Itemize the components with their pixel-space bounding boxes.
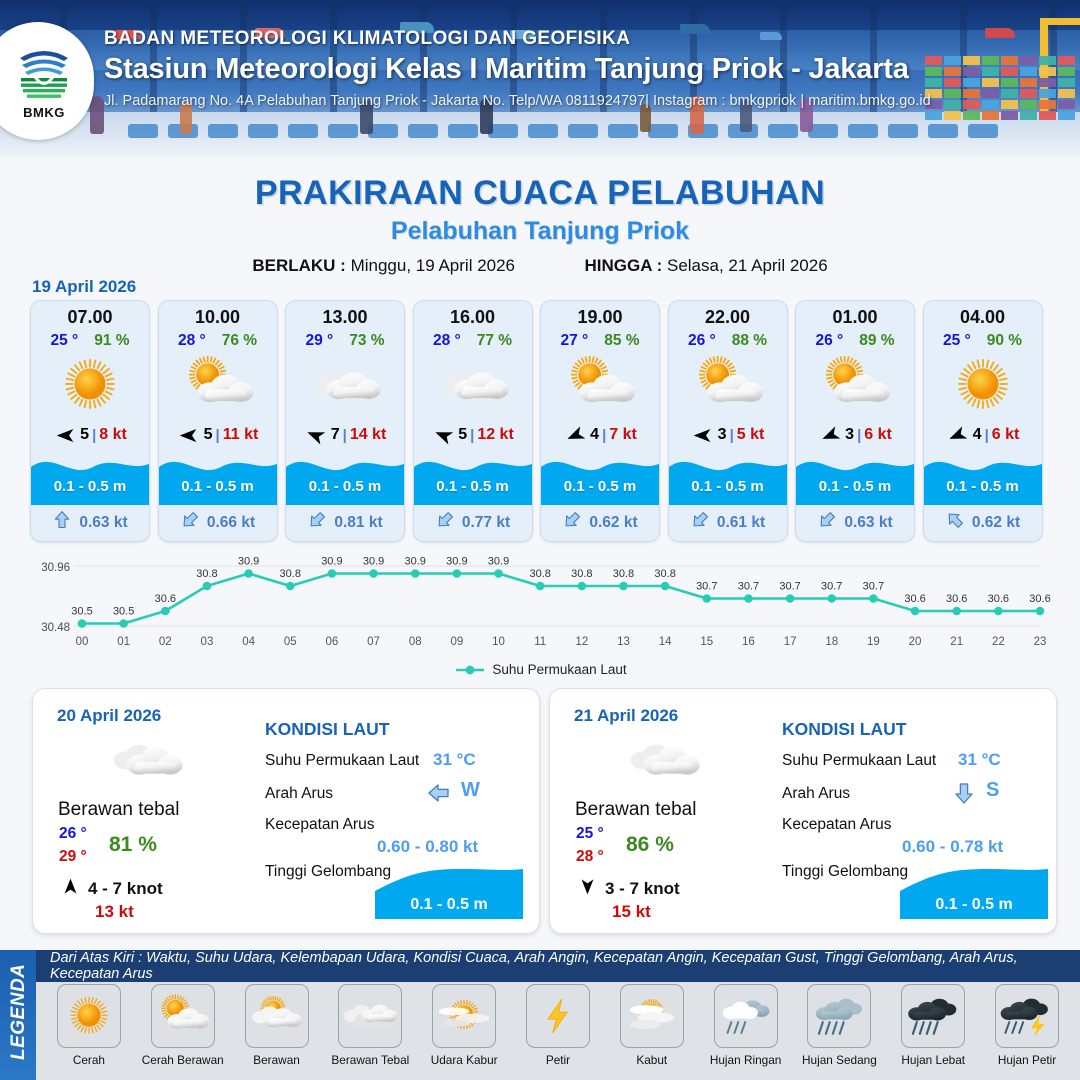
svg-text:15: 15	[700, 636, 713, 648]
svg-text:30.7: 30.7	[738, 581, 759, 593]
cloud-sun-icon	[245, 984, 309, 1048]
card-separator: |	[730, 427, 734, 444]
wave-graphic	[669, 449, 788, 505]
legenda-item-label: Hujan Lebat	[901, 1053, 965, 1067]
card-wind-speed: 3	[718, 426, 727, 444]
legenda-item: Udara Kabur	[421, 984, 507, 1067]
svg-text:17: 17	[784, 636, 797, 648]
card-wind: 5 | 11 kt	[159, 422, 277, 448]
card-wind-speed: 3	[845, 426, 854, 444]
svg-text:30.6: 30.6	[155, 593, 176, 605]
svg-text:30.6: 30.6	[904, 593, 925, 605]
cloud-icon	[91, 731, 201, 789]
card-separator: |	[470, 427, 474, 444]
svg-text:30.9: 30.9	[363, 556, 384, 568]
svg-text:30.9: 30.9	[405, 556, 426, 568]
card-wind-speed: 7	[331, 426, 340, 444]
svg-text:23: 23	[1034, 636, 1047, 648]
svg-text:05: 05	[284, 636, 297, 648]
svg-text:04: 04	[242, 636, 255, 648]
daily-temp-min: 26 °	[59, 825, 87, 843]
berlaku-label: BERLAKU :	[252, 256, 346, 275]
daily-wind-range: 4 - 7 knot	[88, 879, 163, 899]
cloud-icon	[608, 731, 718, 789]
card-wind: 5 | 12 kt	[414, 422, 532, 448]
card-current: 0.77 kt	[414, 510, 532, 535]
arrow-southwest-icon	[180, 510, 200, 535]
daily-date: 20 April 2026	[57, 706, 161, 726]
sst-label: Suhu Permukaan Laut	[782, 752, 936, 770]
svg-text:21: 21	[950, 636, 963, 648]
card-humidity: 89 %	[859, 332, 894, 350]
arrow-westsouthwest-icon	[563, 425, 587, 445]
hourly-card: 10.00 28 ° 76 % 5 | 11 kt	[158, 300, 278, 542]
wave-graphic	[31, 449, 150, 505]
hourly-card: 16.00 28 ° 77 % 5 | 12 kt	[413, 300, 533, 542]
current-direction-label: Arah Arus	[265, 785, 333, 803]
daily-humidity: 81 %	[109, 833, 157, 857]
legenda-item-label: Udara Kabur	[431, 1053, 498, 1067]
card-temp-humidity: 25 ° 90 %	[924, 332, 1042, 350]
daily-condition: Berawan tebal	[575, 799, 696, 821]
legenda-item: Berawan	[234, 984, 320, 1067]
card-wind-speed: 5	[80, 426, 89, 444]
wave-height-value: 0.1 - 0.5 m	[900, 896, 1048, 914]
arrow-north-icon	[52, 510, 72, 535]
daily-gust: 13 kt	[95, 902, 134, 922]
sun-cloud-icon	[151, 984, 215, 1048]
arrow-southwest-icon	[690, 510, 710, 535]
svg-text:30.5: 30.5	[71, 606, 92, 618]
card-gust: 12 kt	[477, 426, 513, 444]
svg-text:09: 09	[450, 636, 463, 648]
daily-wind: 4 - 7 knot	[61, 877, 163, 901]
card-wind-speed: 4	[590, 426, 599, 444]
daily-temp-min: 25 °	[576, 825, 604, 843]
hourly-card: 01.00 26 ° 89 % 3 | 6 kt	[795, 300, 915, 542]
arrow-westsouthwest-icon	[818, 425, 842, 445]
card-wind: 5 | 8 kt	[31, 422, 149, 448]
arrow-southwest-icon	[817, 510, 837, 535]
card-wave-height: 0.1 - 0.5 m	[31, 478, 149, 495]
sun-icon	[31, 354, 149, 416]
card-humidity: 76 %	[222, 332, 257, 350]
wave-graphic	[414, 449, 533, 505]
card-wind-speed: 5	[204, 426, 213, 444]
daily-temp-max: 29 °	[59, 848, 87, 866]
current-speed-label: Kecepatan Arus	[782, 816, 891, 834]
card-time: 19.00	[541, 301, 659, 328]
current-direction-value: W	[461, 779, 480, 802]
arrow-west-icon	[427, 781, 451, 810]
svg-text:30.8: 30.8	[571, 568, 592, 580]
card-current: 0.61 kt	[669, 510, 787, 535]
current-speed-label: Kecepatan Arus	[265, 816, 374, 834]
arrow-north-icon	[61, 877, 80, 901]
cloud-icon	[286, 354, 404, 416]
bmkg-logo-text: BMKG	[23, 105, 65, 120]
legenda-item: Hujan Lebat	[890, 984, 976, 1067]
card-current-speed: 0.77 kt	[462, 514, 510, 532]
card-temperature: 28 °	[178, 332, 206, 350]
card-current-speed: 0.61 kt	[717, 514, 765, 532]
card-temp-humidity: 26 ° 89 %	[796, 332, 914, 350]
bmkg-logo-mark	[14, 42, 74, 104]
sun-cloud-icon	[669, 354, 787, 416]
card-time: 01.00	[796, 301, 914, 328]
arrow-west-icon	[691, 425, 715, 445]
card-gust: 7 kt	[609, 426, 637, 444]
card-humidity: 90 %	[987, 332, 1022, 350]
card-humidity: 88 %	[732, 332, 767, 350]
card-wave-height: 0.1 - 0.5 m	[669, 478, 787, 495]
svg-text:30.7: 30.7	[779, 581, 800, 593]
legend-marker-icon	[455, 664, 485, 676]
svg-text:06: 06	[326, 636, 339, 648]
page-header: BMKG BADAN METEOROLOGI KLIMATOLOGI DAN G…	[0, 0, 1080, 158]
card-gust: 6 kt	[992, 426, 1020, 444]
svg-text:30.8: 30.8	[196, 568, 217, 580]
legenda-side-tab: LEGENDA	[0, 950, 36, 1080]
svg-text:30.96: 30.96	[41, 562, 70, 574]
legenda-item: Cerah	[46, 984, 132, 1067]
legenda-item-label: Berawan	[253, 1053, 300, 1067]
card-current: 0.63 kt	[31, 510, 149, 535]
daily-wind-range: 3 - 7 knot	[605, 879, 680, 899]
card-wave-height: 0.1 - 0.5 m	[924, 478, 1042, 495]
arrow-south-icon	[578, 877, 597, 901]
legenda-item: Cerah Berawan	[140, 984, 226, 1067]
hingga-value: Selasa, 21 April 2026	[667, 256, 828, 275]
card-current-speed: 0.66 kt	[207, 514, 255, 532]
legenda-item-label: Cerah	[73, 1053, 105, 1067]
current-direction-label: Arah Arus	[782, 785, 850, 803]
card-temp-humidity: 26 ° 88 %	[669, 332, 787, 350]
arrow-southwest-icon	[307, 510, 327, 535]
hourly-card: 07.00 25 ° 91 % 5 | 8 kt 0.1 - 0.5 m	[30, 300, 150, 542]
svg-text:02: 02	[159, 636, 172, 648]
card-temp-humidity: 29 ° 73 %	[286, 332, 404, 350]
arrow-westnorthwest-icon	[304, 425, 328, 445]
legenda-item-label: Hujan Sedang	[802, 1053, 877, 1067]
sst-chart-svg: 30.9630.4830.50030.50130.60230.80330.904…	[30, 552, 1052, 660]
legenda-section: LEGENDA Dari Atas Kiri : Waktu, Suhu Uda…	[0, 950, 1080, 1080]
card-wind: 3 | 5 kt	[669, 422, 787, 448]
svg-text:12: 12	[575, 636, 588, 648]
card-temp-humidity: 28 ° 76 %	[159, 332, 277, 350]
thunderstorm-icon	[995, 984, 1059, 1048]
card-temp-humidity: 28 ° 77 %	[414, 332, 532, 350]
legenda-icon-list: Cerah Cerah Berawan	[36, 984, 1080, 1067]
svg-text:19: 19	[867, 636, 880, 648]
card-humidity: 77 %	[477, 332, 512, 350]
legenda-side-label: LEGENDA	[8, 960, 30, 1060]
daily-temp-max: 28 °	[576, 848, 604, 866]
hourly-forecast-row: 07.00 25 ° 91 % 5 | 8 kt 0.1 - 0.5 m	[30, 300, 1052, 542]
card-separator: |	[857, 427, 861, 444]
wave-graphic	[924, 449, 1043, 505]
svg-text:30.6: 30.6	[946, 593, 967, 605]
agency-name: BADAN METEOROLOGI KLIMATOLOGI DAN GEOFIS…	[104, 28, 1064, 50]
card-current-speed: 0.62 kt	[972, 514, 1020, 532]
svg-text:00: 00	[76, 636, 89, 648]
svg-text:18: 18	[825, 636, 838, 648]
station-address: Jl. Padamarang No. 4A Pelabuhan Tanjung …	[104, 93, 1064, 109]
card-time: 22.00	[669, 301, 787, 328]
card-current: 0.81 kt	[286, 510, 404, 535]
header-text-block: BADAN METEOROLOGI KLIMATOLOGI DAN GEOFIS…	[104, 28, 1064, 109]
card-temperature: 29 °	[305, 332, 333, 350]
svg-text:30.9: 30.9	[238, 556, 259, 568]
sun-cloud-icon	[159, 354, 277, 416]
card-wave-height: 0.1 - 0.5 m	[414, 478, 532, 495]
arrow-westnorthwest-icon	[431, 425, 455, 445]
card-temperature: 26 °	[815, 332, 843, 350]
card-time: 13.00	[286, 301, 404, 328]
legenda-item: Petir	[515, 984, 601, 1067]
legenda-item: Berawan Tebal	[327, 984, 413, 1067]
sun-icon	[924, 354, 1042, 416]
station-name: Stasiun Meteorologi Kelas I Maritim Tanj…	[104, 53, 1064, 86]
sea-condition-title: KONDISI LAUT	[265, 719, 389, 740]
wave-height-value: 0.1 - 0.5 m	[375, 896, 523, 914]
arrow-west-icon	[53, 425, 77, 445]
card-humidity: 73 %	[349, 332, 384, 350]
card-time: 16.00	[414, 301, 532, 328]
card-wave-height: 0.1 - 0.5 m	[541, 478, 659, 495]
legend-label: Suhu Permukaan Laut	[492, 662, 626, 677]
wave-graphic	[159, 449, 278, 505]
wave-graphic	[796, 449, 915, 505]
sst-label: Suhu Permukaan Laut	[265, 752, 419, 770]
svg-text:30.9: 30.9	[446, 556, 467, 568]
card-current-speed: 0.62 kt	[589, 514, 637, 532]
svg-text:30.8: 30.8	[613, 568, 634, 580]
svg-text:30.7: 30.7	[696, 581, 717, 593]
card-gust: 6 kt	[864, 426, 892, 444]
svg-text:30.8: 30.8	[280, 568, 301, 580]
card-separator: |	[216, 427, 220, 444]
card-wind-speed: 5	[458, 426, 467, 444]
legenda-description: Dari Atas Kiri : Waktu, Suhu Udara, Kele…	[50, 950, 1080, 982]
daily-humidity: 86 %	[626, 833, 674, 857]
card-time: 04.00	[924, 301, 1042, 328]
arrow-west-icon	[177, 425, 201, 445]
legenda-item-label: Cerah Berawan	[142, 1053, 224, 1067]
sun-cloud-icon	[796, 354, 914, 416]
sun-cloud-icon	[541, 354, 659, 416]
card-gust: 5 kt	[737, 426, 765, 444]
card-time: 07.00	[31, 301, 149, 328]
card-wind: 7 | 14 kt	[286, 422, 404, 448]
daily-wind: 3 - 7 knot	[578, 877, 680, 901]
svg-text:16: 16	[742, 636, 755, 648]
svg-text:13: 13	[617, 636, 630, 648]
hourly-card: 19.00 27 ° 85 % 4 | 7 kt	[540, 300, 660, 542]
arrow-south-icon	[952, 781, 976, 810]
moderate-rain-icon	[807, 984, 871, 1048]
svg-text:30.8: 30.8	[529, 568, 550, 580]
page-subtitle: Pelabuhan Tanjung Priok	[0, 217, 1080, 246]
card-separator: |	[343, 427, 347, 444]
wave-height-label: Tinggi Gelombang	[782, 863, 908, 881]
card-current: 0.63 kt	[796, 510, 914, 535]
svg-text:30.6: 30.6	[1029, 593, 1050, 605]
svg-text:30.8: 30.8	[654, 568, 675, 580]
card-current-speed: 0.81 kt	[334, 514, 382, 532]
hourly-date-label: 19 April 2026	[32, 277, 136, 297]
chart-legend: Suhu Permukaan Laut	[30, 662, 1052, 677]
card-wave-height: 0.1 - 0.5 m	[286, 478, 404, 495]
current-speed-value: 0.60 - 0.80 kt	[377, 837, 478, 857]
light-rain-icon	[714, 984, 778, 1048]
sst-value: 31 °C	[433, 750, 476, 770]
card-humidity: 91 %	[94, 332, 129, 350]
svg-text:11: 11	[534, 636, 546, 648]
page-title: PRAKIRAAN CUACA PELABUHAN	[0, 174, 1080, 213]
legenda-item: Hujan Petir	[984, 984, 1070, 1067]
svg-text:30.9: 30.9	[488, 556, 509, 568]
card-gust: 8 kt	[99, 426, 127, 444]
legenda-item-label: Petir	[546, 1053, 570, 1067]
card-wind-speed: 4	[973, 426, 982, 444]
card-temperature: 25 °	[50, 332, 78, 350]
fog-icon	[620, 984, 684, 1048]
sst-chart: 30.9630.4830.50030.50130.60230.80330.904…	[30, 552, 1052, 674]
legenda-description-bar: Dari Atas Kiri : Waktu, Suhu Udara, Kele…	[36, 950, 1080, 982]
svg-text:08: 08	[409, 636, 422, 648]
card-wave-height: 0.1 - 0.5 m	[159, 478, 277, 495]
hourly-card: 13.00 29 ° 73 % 7 | 14 kt	[285, 300, 405, 542]
card-current: 0.62 kt	[924, 510, 1042, 535]
heavy-rain-icon	[901, 984, 965, 1048]
card-current-speed: 0.63 kt	[79, 514, 127, 532]
card-current: 0.66 kt	[159, 510, 277, 535]
card-temperature: 28 °	[433, 332, 461, 350]
svg-text:01: 01	[117, 636, 130, 648]
card-wind: 4 | 6 kt	[924, 422, 1042, 448]
wave-graphic	[541, 449, 660, 505]
legenda-item: Hujan Sedang	[796, 984, 882, 1067]
card-current: 0.62 kt	[541, 510, 659, 535]
card-temp-humidity: 27 ° 85 %	[541, 332, 659, 350]
legenda-item: Kabut	[609, 984, 695, 1067]
card-wave-height: 0.1 - 0.5 m	[796, 478, 914, 495]
card-temperature: 27 °	[560, 332, 588, 350]
haze-icon	[432, 984, 496, 1048]
daily-forecast-card: 20 April 2026 Berawan tebal 26 ° 29 ° 81…	[32, 688, 540, 934]
validity-period: BERLAKU : Minggu, 19 April 2026 HINGGA :…	[0, 256, 1080, 276]
svg-text:22: 22	[992, 636, 1005, 648]
current-speed-value: 0.60 - 0.78 kt	[902, 837, 1003, 857]
card-wind: 4 | 7 kt	[541, 422, 659, 448]
sst-value: 31 °C	[958, 750, 1001, 770]
legenda-item-label: Hujan Petir	[998, 1053, 1056, 1067]
wave-graphic	[286, 449, 405, 505]
arrow-southwest-icon	[435, 510, 455, 535]
card-gust: 14 kt	[350, 426, 386, 444]
svg-text:30.6: 30.6	[988, 593, 1009, 605]
arrow-westsouthwest-icon	[946, 425, 970, 445]
card-temp-humidity: 25 ° 91 %	[31, 332, 149, 350]
hourly-card: 22.00 26 ° 88 % 3 | 5 kt	[668, 300, 788, 542]
card-temperature: 26 °	[688, 332, 716, 350]
legenda-item-label: Hujan Ringan	[710, 1053, 781, 1067]
svg-text:30.7: 30.7	[863, 581, 884, 593]
current-direction-value: S	[986, 779, 999, 802]
svg-text:10: 10	[492, 636, 505, 648]
daily-gust: 15 kt	[612, 902, 651, 922]
hingga-label: HINGGA :	[584, 256, 662, 275]
card-temperature: 25 °	[943, 332, 971, 350]
card-separator: |	[92, 427, 96, 444]
daily-forecast-card: 21 April 2026 Berawan tebal 25 ° 28 ° 86…	[549, 688, 1057, 934]
svg-text:07: 07	[367, 636, 380, 648]
sun-icon	[57, 984, 121, 1048]
svg-text:30.5: 30.5	[113, 606, 134, 618]
lightning-icon	[526, 984, 590, 1048]
legenda-item: Hujan Ringan	[703, 984, 789, 1067]
arrow-southwest-icon	[562, 510, 582, 535]
svg-text:14: 14	[659, 636, 672, 648]
daily-condition: Berawan tebal	[58, 799, 179, 821]
daily-date: 21 April 2026	[574, 706, 678, 726]
card-separator: |	[602, 427, 606, 444]
sea-condition-title: KONDISI LAUT	[782, 719, 906, 740]
arrow-northwest-icon	[945, 510, 965, 535]
heavy-cloud-icon	[338, 984, 402, 1048]
svg-text:30.48: 30.48	[41, 622, 70, 634]
svg-text:20: 20	[909, 636, 922, 648]
svg-text:03: 03	[201, 636, 214, 648]
svg-text:30.7: 30.7	[821, 581, 842, 593]
berlaku-value: Minggu, 19 April 2026	[351, 256, 515, 275]
card-current-speed: 0.63 kt	[844, 514, 892, 532]
card-gust: 11 kt	[223, 426, 259, 444]
card-humidity: 85 %	[604, 332, 639, 350]
wave-height-label: Tinggi Gelombang	[265, 863, 391, 881]
title-block: PRAKIRAAN CUACA PELABUHAN Pelabuhan Tanj…	[0, 158, 1080, 276]
hourly-card: 04.00 25 ° 90 % 4 | 6 kt 0.1 - 0.5 m	[923, 300, 1043, 542]
card-separator: |	[985, 427, 989, 444]
card-time: 10.00	[159, 301, 277, 328]
legenda-item-label: Kabut	[636, 1053, 667, 1067]
card-wind: 3 | 6 kt	[796, 422, 914, 448]
svg-text:30.9: 30.9	[321, 556, 342, 568]
cloud-icon	[414, 354, 532, 416]
legenda-item-label: Berawan Tebal	[331, 1053, 409, 1067]
